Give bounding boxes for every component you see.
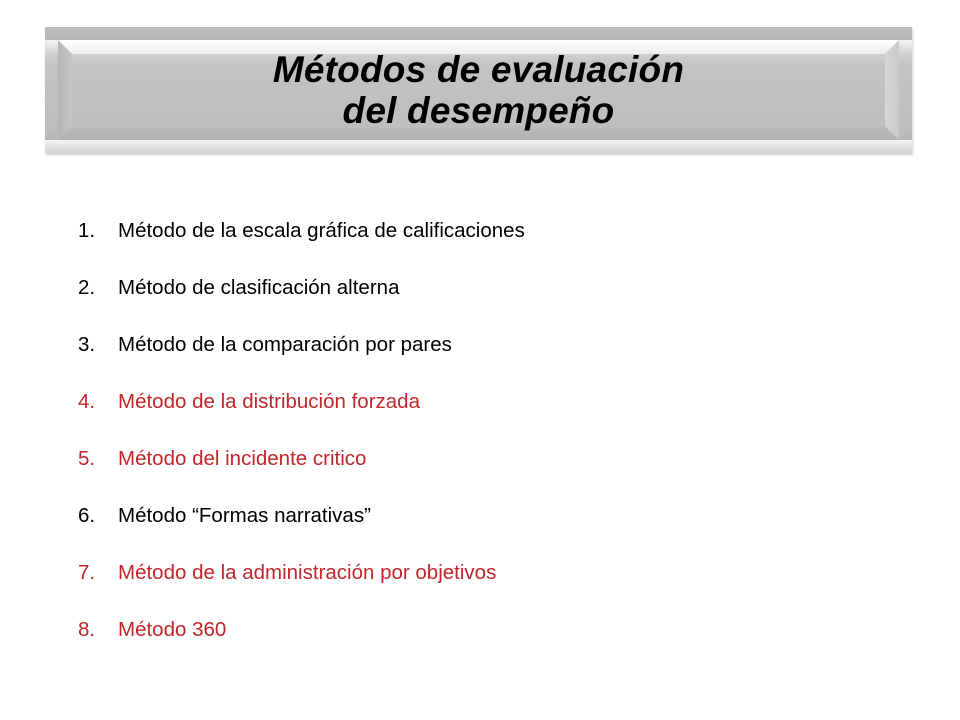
- list-item: 6.Método “Formas narrativas”: [78, 503, 898, 560]
- list-item-number: 7.: [78, 560, 118, 586]
- list-item-text: Método de la administración por objetivo…: [118, 560, 496, 586]
- page-title: Métodos de evaluación del desempeño: [58, 51, 899, 129]
- list-item-number: 3.: [78, 332, 118, 358]
- list-item-number: 6.: [78, 503, 118, 529]
- list-item: 7.Método de la administración por objeti…: [78, 560, 898, 617]
- list-item-number: 1.: [78, 218, 118, 244]
- list-item-number: 5.: [78, 446, 118, 472]
- list-item-text: Método de la escala gráfica de calificac…: [118, 218, 525, 244]
- title-line-2: del desempeño: [58, 92, 899, 130]
- list-item-text: Método de la distribución forzada: [118, 389, 420, 415]
- list-item-text: Método “Formas narrativas”: [118, 503, 371, 529]
- title-plaque: Métodos de evaluación del desempeño: [45, 27, 912, 153]
- list-item-text: Método de clasificación alterna: [118, 275, 399, 301]
- list-item-number: 8.: [78, 617, 118, 643]
- list-item-text: Método 360: [118, 617, 226, 643]
- methods-ordered-list: 1.Método de la escala gráfica de calific…: [78, 218, 898, 674]
- list-item-text: Método del incidente critico: [118, 446, 366, 472]
- list-item: 8.Método 360: [78, 617, 898, 674]
- list-item: 3.Método de la comparación por pares: [78, 332, 898, 389]
- list-item-number: 4.: [78, 389, 118, 415]
- list-item: 4.Método de la distribución forzada: [78, 389, 898, 446]
- list-item-text: Método de la comparación por pares: [118, 332, 452, 358]
- list-item-number: 2.: [78, 275, 118, 301]
- slide-canvas: Métodos de evaluación del desempeño 1.Mé…: [0, 0, 960, 720]
- list-item: 1.Método de la escala gráfica de calific…: [78, 218, 898, 275]
- title-line-1: Métodos de evaluación: [58, 51, 899, 89]
- list-item: 5.Método del incidente critico: [78, 446, 898, 503]
- list-item: 2.Método de clasificación alterna: [78, 275, 898, 332]
